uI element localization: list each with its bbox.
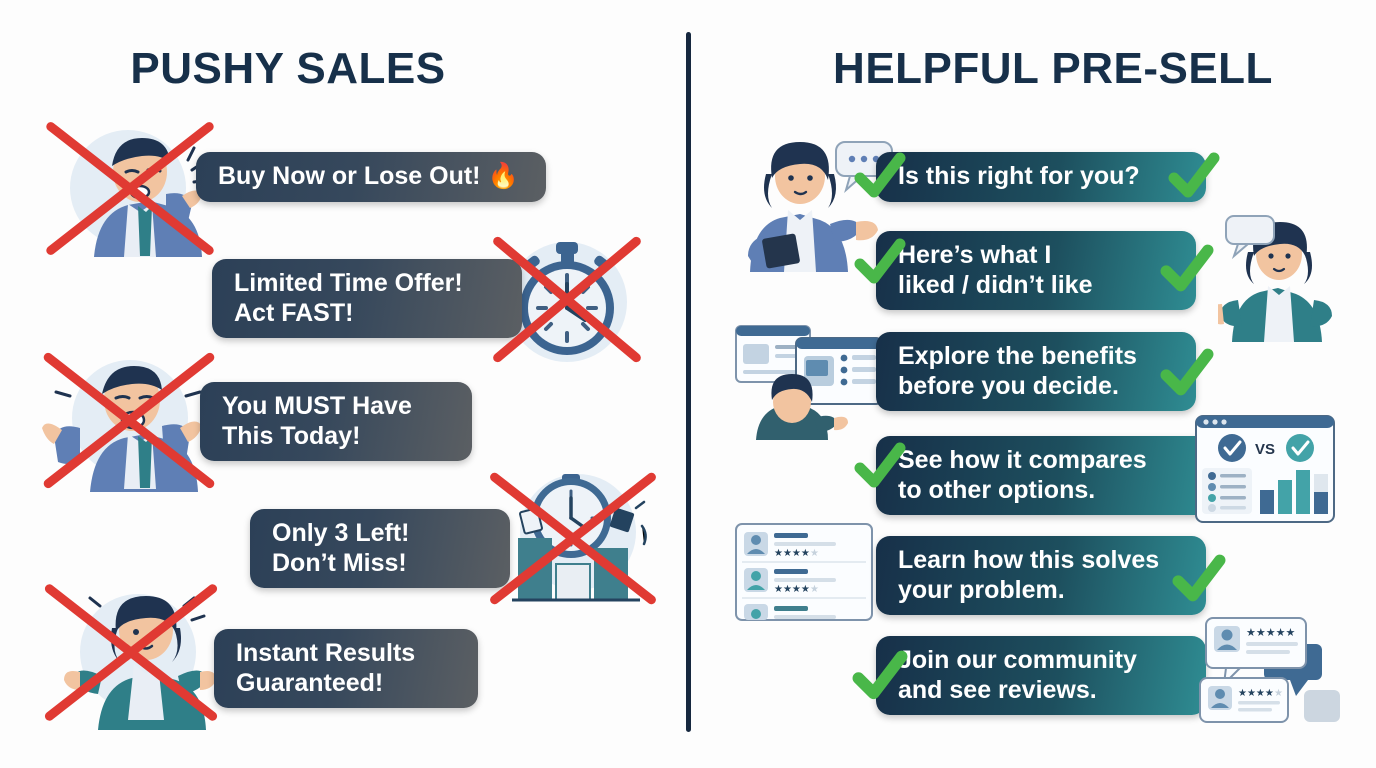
- pushy-pill-4: Only 3 Left! Don’t Miss!: [250, 509, 510, 588]
- green-check-icon-4: [854, 440, 906, 492]
- green-check-icon-3: [1160, 346, 1214, 400]
- svg-text:★: ★: [1274, 688, 1283, 699]
- woman-reviewer-speech-bubble-icon: [1218, 212, 1338, 342]
- stopwatch-over-bar-chart-icon: [486, 468, 664, 608]
- pushy-pill-3-line-2: This Today!: [222, 422, 412, 452]
- svg-text:★★★★: ★★★★: [1238, 688, 1274, 699]
- presell-pill-2-line-1: Here’s what I: [898, 241, 1092, 271]
- pushy-pill-4-line-2: Don’t Miss!: [272, 549, 410, 579]
- presell-pill-6-line-1: Join our community: [898, 646, 1137, 676]
- review-list-panel-icon: ★★★★★ ★★★★★: [734, 522, 874, 622]
- presell-pill-3-line-1: Explore the benefits: [898, 342, 1137, 372]
- pushy-pill-5-line-1: Instant Results: [236, 639, 415, 669]
- green-check-icon-1a: [854, 150, 906, 202]
- right-column-title: HELPFUL PRE-SELL: [690, 44, 1376, 94]
- presell-pill-6-line-2: and see reviews.: [898, 676, 1137, 706]
- svg-text:★: ★: [810, 584, 819, 595]
- angry-salesman-pointing-icon: [42, 122, 222, 257]
- presell-pill-5-line-2: your problem.: [898, 576, 1159, 606]
- green-check-icon-2a: [854, 236, 906, 288]
- presell-pill-3-line-2: before you decide.: [898, 372, 1137, 402]
- svg-text:★★★★★: ★★★★★: [1246, 627, 1295, 639]
- presell-pill-4-line-1: See how it compares: [898, 446, 1147, 476]
- svg-text:VS: VS: [1255, 441, 1275, 458]
- svg-text:★: ★: [810, 548, 819, 559]
- pushy-pill-3: You MUST Have This Today!: [200, 382, 472, 461]
- pushy-pill-1-line-1: Buy Now or Lose Out! 🔥: [218, 162, 519, 192]
- presell-pill-3: Explore the benefits before you decide.: [876, 332, 1196, 411]
- pushy-pill-2: Limited Time Offer! Act FAST!: [212, 259, 522, 338]
- presell-pill-2-line-2: liked / didn’t like: [898, 271, 1092, 301]
- vs-comparison-chart-icon: VS: [1194, 414, 1336, 524]
- presell-pill-6: Join our community and see reviews.: [876, 636, 1206, 715]
- pushy-pill-2-line-1: Limited Time Offer!: [234, 269, 463, 299]
- green-check-icon-2b: [1160, 242, 1214, 296]
- presell-pill-1-line-1: Is this right for you?: [898, 162, 1140, 192]
- column-helpful-presell: HELPFUL PRE-SELL: [690, 0, 1376, 768]
- green-check-icon-5: [1172, 552, 1226, 606]
- presell-pill-2: Here’s what I liked / didn’t like: [876, 231, 1196, 310]
- pushy-pill-4-line-1: Only 3 Left!: [272, 519, 410, 549]
- presell-pill-5-line-1: Learn how this solves: [898, 546, 1159, 576]
- presell-pill-4: See how it compares to other options.: [876, 436, 1210, 515]
- svg-text:★★★★: ★★★★: [774, 548, 810, 559]
- pushy-pill-5-line-2: Guaranteed!: [236, 669, 415, 699]
- green-check-icon-1b: [1168, 150, 1220, 202]
- shouting-salesman-pointing-icon: [40, 352, 220, 492]
- presell-pill-4-line-2: to other options.: [898, 476, 1147, 506]
- review-bubbles-stars-icon: ★★★★★ ★★★★★: [1194, 614, 1354, 734]
- presell-pill-1: Is this right for you?: [876, 152, 1206, 202]
- pushy-pill-2-line-2: Act FAST!: [234, 299, 463, 329]
- left-column-title: PUSHY SALES: [0, 44, 686, 94]
- green-check-icon-6: [852, 648, 908, 704]
- infographic-board: PUSHY SALES: [0, 0, 1376, 768]
- pushy-pill-1: Buy Now or Lose Out! 🔥: [196, 152, 546, 202]
- pushy-pill-3-line-1: You MUST Have: [222, 392, 412, 422]
- pushy-pill-5: Instant Results Guaranteed!: [214, 629, 478, 708]
- column-pushy-sales: PUSHY SALES: [0, 0, 686, 768]
- svg-text:★★★★: ★★★★: [774, 584, 810, 595]
- presell-pill-5: Learn how this solves your problem.: [876, 536, 1206, 615]
- woman-shrugging-icon: [42, 580, 222, 730]
